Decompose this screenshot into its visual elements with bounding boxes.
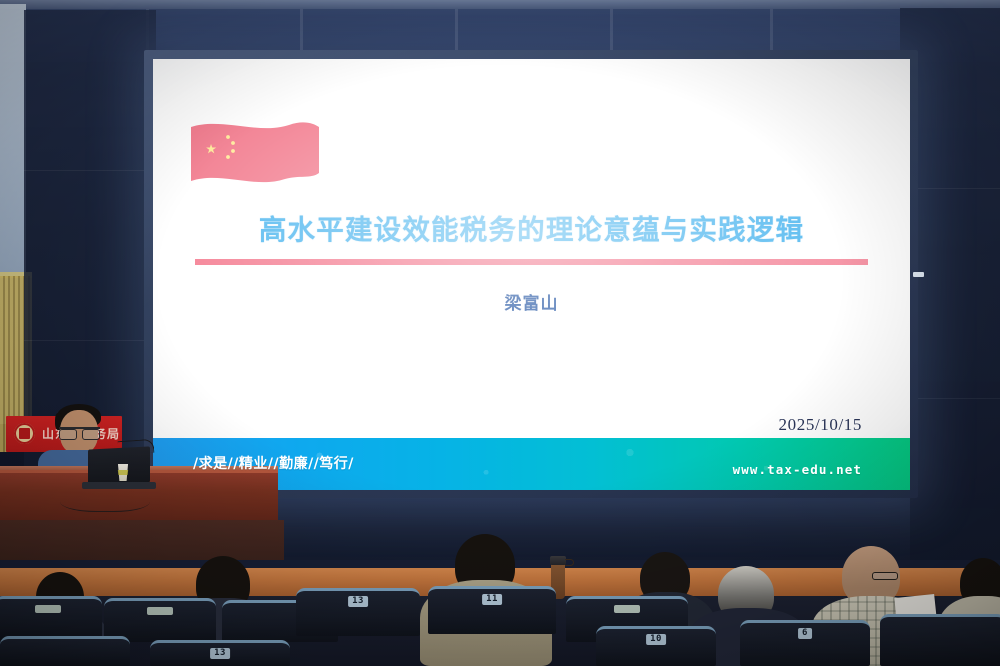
thermos-handle-loop: [565, 559, 574, 566]
ceiling-edge: [0, 0, 1000, 9]
seat-back[interactable]: 13: [296, 588, 420, 636]
slide-author: 梁富山: [153, 289, 910, 314]
seat-back[interactable]: 13: [150, 640, 290, 666]
seat-label-plate: [35, 605, 61, 613]
slide-title: 高水平建设效能税务的理论意蕴与实践逻辑: [153, 207, 910, 247]
seat-back[interactable]: [0, 636, 130, 666]
seat-back[interactable]: 10: [596, 626, 716, 666]
audience-glasses-icon: [872, 572, 898, 580]
seat-back[interactable]: 6: [740, 620, 870, 666]
presenter-glasses-icon: [59, 427, 100, 436]
seat-label-plate: [614, 605, 640, 613]
seat-back[interactable]: [0, 596, 102, 640]
paper-cup-band: [117, 470, 129, 475]
seat-number-6: 6: [798, 628, 812, 639]
desk-cable: [60, 486, 150, 512]
seat-number-10: 10: [646, 634, 666, 645]
frame-label-sticker: [913, 272, 924, 277]
projected-slide: 高水平建设效能税务的理论意蕴与实践逻辑 梁富山 2025/10/15 /求是//…: [153, 59, 910, 490]
seat-back[interactable]: [880, 614, 1000, 666]
footer-website-url: www.tax-edu.net: [733, 462, 862, 477]
seat-number-13: 13: [348, 596, 368, 607]
footer-slogan: /求是//精业//勤廉//笃行/: [193, 453, 354, 473]
lecture-hall-scene: 高水平建设效能税务的理论意蕴与实践逻辑 梁富山 2025/10/15 /求是//…: [0, 0, 1000, 666]
title-divider-rule: [195, 259, 868, 265]
thermos-cap: [550, 556, 566, 565]
slide-date: 2025/10/15: [779, 415, 862, 435]
seat-label-plate: [147, 607, 173, 615]
seat-number-13-front: 13: [210, 648, 230, 659]
china-flag-icon: [185, 113, 325, 195]
seat-back[interactable]: 11: [428, 586, 556, 634]
seat-number-11: 11: [482, 594, 502, 605]
